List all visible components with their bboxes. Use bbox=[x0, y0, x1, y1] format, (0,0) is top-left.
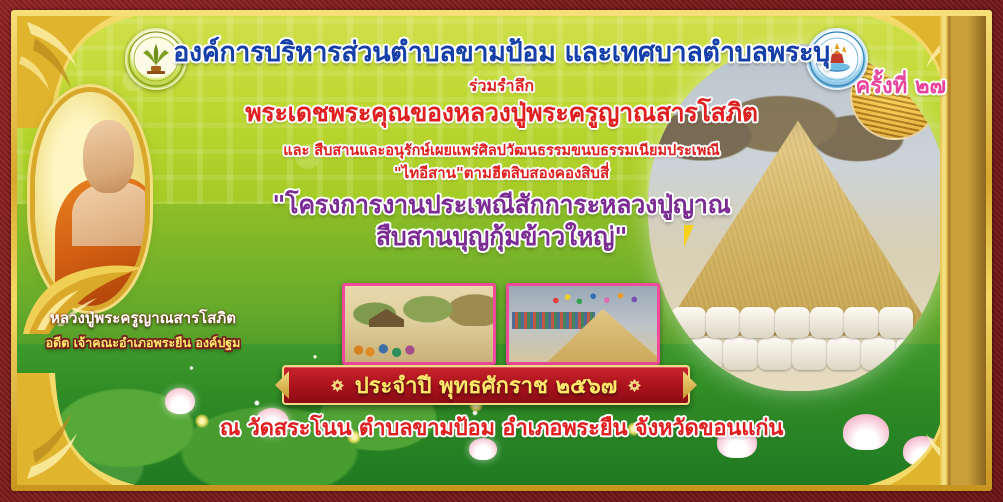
project-title-line-2: สืบสานบุญกุ้มข้าวใหญ่" bbox=[17, 224, 986, 249]
rice-sack bbox=[896, 338, 931, 370]
project-title-line-1: "โครงการงานประเพณีสักการะหลวงปู่ญาณ bbox=[17, 192, 986, 217]
rice-sack bbox=[861, 338, 896, 370]
venue-line: ณ วัดสระโนน ตำบลขามป้อม อำเภอพระยืน จังห… bbox=[17, 418, 986, 440]
rice-sack bbox=[740, 307, 775, 339]
painting-trees bbox=[345, 286, 493, 326]
poster-canvas: หลวงปู่พระครูญาณสารโสภิต อดีต เจ้าคณะอำเ… bbox=[17, 16, 986, 485]
year-text: ประจำปี พุทธศักราช ๒๕๖๗ bbox=[355, 368, 618, 403]
monk-name: หลวงปู่พระครูญาณสารโสภิต bbox=[17, 306, 269, 330]
organization-header: องค์การบริหารส่วนตำบลขามป้อม และเทศบาลตำ… bbox=[17, 39, 986, 66]
festival-poster: หลวงปู่พระครูญาณสารโสภิต อดีต เจ้าคณะอำเ… bbox=[0, 0, 1003, 502]
rice-sack bbox=[792, 338, 827, 370]
rice-sack bbox=[723, 338, 758, 370]
floret-ornament-icon bbox=[330, 378, 345, 393]
floret-ornament-icon bbox=[627, 378, 642, 393]
tradition-painting-photo bbox=[342, 283, 496, 365]
year-banner: ประจำปี พุทธศักราช ๒๕๖๗ bbox=[282, 365, 690, 405]
rice-heap-event-photo bbox=[506, 283, 660, 365]
lotus-flower-icon bbox=[903, 436, 941, 466]
event-flags bbox=[550, 292, 648, 309]
rice-sack bbox=[758, 338, 793, 370]
painting-villagers bbox=[351, 329, 446, 359]
event-crowd bbox=[512, 312, 595, 329]
rice-sack bbox=[879, 307, 914, 339]
rice-sack bbox=[689, 338, 724, 370]
remembrance-label: ร่วมรำลึก bbox=[17, 78, 986, 94]
rice-sack bbox=[827, 338, 862, 370]
rice-sack bbox=[810, 307, 845, 339]
rice-sack bbox=[775, 307, 810, 339]
rice-sack-row bbox=[654, 301, 942, 370]
rice-sack bbox=[844, 307, 879, 339]
isan-tradition-line: "ไทอีสาน"ตามฮีตสิบสองคองสิบสี่ bbox=[17, 166, 986, 181]
preservation-line: และ สืบสานและอนุรักษ์เผยแพร่ศิลปวัฒนธรรม… bbox=[17, 144, 986, 159]
edition-badge: ครั้งที่ ๒๗ bbox=[856, 76, 946, 98]
rice-sack bbox=[671, 307, 706, 339]
rice-sack bbox=[706, 307, 741, 339]
venerable-title: พระเดชพระคุณของหลวงปู่พระครูญาณสารโสภิต bbox=[17, 100, 986, 125]
monk-caption: หลวงปู่พระครูญาณสารโสภิต อดีต เจ้าคณะอำเ… bbox=[17, 306, 269, 353]
monk-role: อดีต เจ้าคณะอำเภอพระยืน องค์ปฐม bbox=[17, 333, 269, 353]
